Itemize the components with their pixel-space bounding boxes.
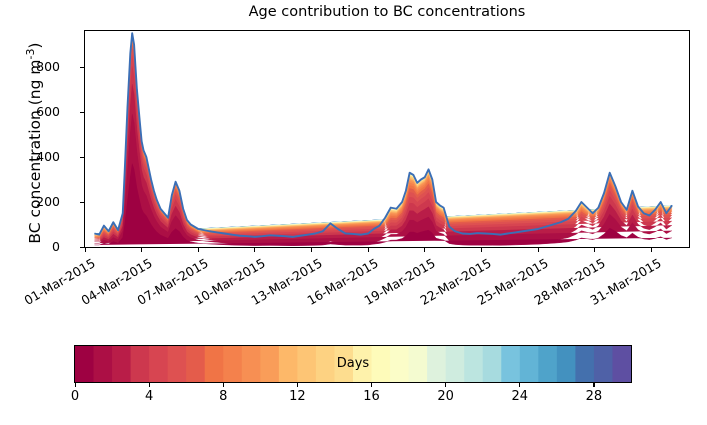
x-tick-mark [481,248,482,252]
colorbar-segment [409,346,428,382]
colorbar-segment [297,346,316,382]
colorbar-tick-mark [371,383,372,387]
colorbar-segment [260,346,279,382]
colorbar-segment [223,346,242,382]
colorbar-tick-label: 20 [426,389,466,404]
colorbar-segment [575,346,594,382]
colorbar-segment [334,346,353,382]
colorbar-tick-mark [519,383,520,387]
x-tick-mark [198,248,199,252]
colorbar-segment [372,346,391,382]
colorbar-segment [149,346,168,382]
colorbar-segment [112,346,131,382]
colorbar-segment [446,346,465,382]
colorbar-segment [242,346,261,382]
y-tick-label: 800 [0,59,60,74]
y-axis-label: BC concentration (ng m-3) [24,13,44,273]
y-axis-label-close: ) [26,43,44,49]
colorbar-tick-label: 12 [277,389,317,404]
colorbar-segment [538,346,557,382]
colorbar-tick-label: 16 [352,389,392,404]
colorbar-segment [168,346,187,382]
colorbar-segment [316,346,335,382]
colorbar-segment [279,346,298,382]
x-tick-mark [538,248,539,252]
y-tick-label: 0 [0,239,60,254]
colorbar-segment [557,346,576,382]
colorbar-segment [501,346,520,382]
colorbar-segment [353,346,372,382]
x-tick-mark [368,248,369,252]
colorbar-segment [94,346,113,382]
page-title: Age contribution to BC concentrations [84,4,690,20]
x-tick-mark [141,248,142,252]
colorbar-segment [390,346,409,382]
colorbar-tick-mark [445,383,446,387]
colorbar-tick-label: 28 [574,389,614,404]
colorbar-segment [483,346,502,382]
x-tick-mark [594,248,595,252]
colorbar-gradient [75,346,631,382]
colorbar-tick-label: 4 [129,389,169,404]
figure-canvas: Age contribution to BC concentrations BC… [0,0,707,425]
colorbar-segment [186,346,205,382]
colorbar[interactable] [74,345,632,383]
colorbar-tick-label: 24 [500,389,540,404]
colorbar-segment [464,346,483,382]
colorbar-segment [520,346,539,382]
colorbar-tick-label: 0 [55,389,95,404]
colorbar-tick-label: 8 [203,389,243,404]
colorbar-tick-mark [149,383,150,387]
colorbar-tick-mark [75,383,76,387]
x-tick-mark [424,248,425,252]
x-tick-mark [651,248,652,252]
plot-area [84,30,690,248]
colorbar-segment [427,346,446,382]
colorbar-segment [205,346,224,382]
x-tick-mark [254,248,255,252]
colorbar-segment [75,346,94,382]
x-tick-mark [85,248,86,252]
colorbar-segment [131,346,150,382]
x-tick-mark [311,248,312,252]
colorbar-segment [594,346,613,382]
colorbar-segment [612,346,631,382]
colorbar-tick-mark [593,383,594,387]
colorbar-tick-mark [223,383,224,387]
y-tick-label: 600 [0,104,60,119]
y-tick-label: 200 [0,194,60,209]
colorbar-tick-mark [297,383,298,387]
y-tick-label: 400 [0,149,60,164]
y-axis-label-exponent: -3 [24,49,37,60]
stacked-area-chart [85,31,689,247]
